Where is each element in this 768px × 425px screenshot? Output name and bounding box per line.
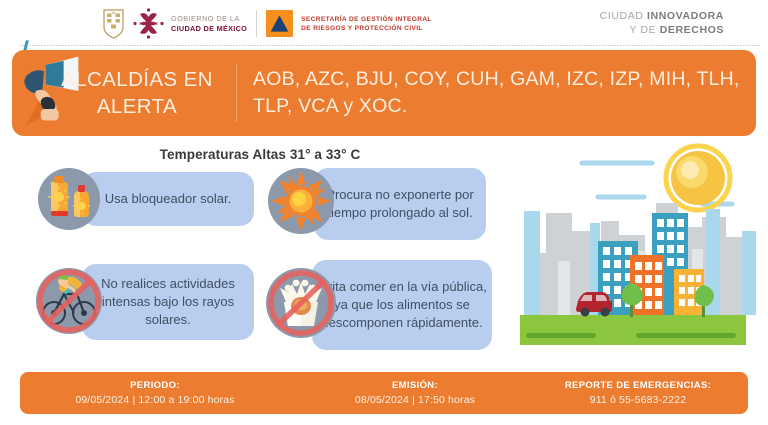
tip-text-sunscreen: Usa bloqueador solar. bbox=[82, 172, 254, 226]
tip-card-no-street-food: Evita comer en la vía pública, ya que lo… bbox=[266, 260, 492, 350]
tip-text-no-exercise: No realices actividades intensas bajo lo… bbox=[82, 264, 254, 340]
tip-card-sun-exposure: Procura no exponerte por tiempo prolonga… bbox=[266, 168, 486, 240]
tip-text-sun-exposure: Procura no exponerte por tiempo prolonga… bbox=[314, 168, 486, 240]
sun-icon bbox=[268, 168, 334, 234]
alcaldias-list-area: AOB, AZC, BJU, COY, CUH, GAM, IZC, IZP, … bbox=[237, 50, 756, 136]
secretaria-line-2: DE RIESGOS Y PROTECCIÓN CIVIL bbox=[301, 24, 432, 33]
temperature-heading: Temperaturas Altas 31° a 33° C bbox=[0, 147, 520, 162]
triangle-protection-icon bbox=[266, 10, 293, 37]
footer-periodo: PERIODO: 09/05/2024 | 12:00 a 19:00 hora… bbox=[20, 379, 290, 408]
no-cycling-icon bbox=[36, 268, 102, 334]
no-street-food-icon bbox=[266, 268, 336, 338]
alcaldias-list: AOB, AZC, BJU, COY, CUH, GAM, IZC, IZP, … bbox=[253, 66, 746, 120]
header-dotted-rule bbox=[20, 45, 760, 46]
page-header: GOBIERNO DE LA CIUDAD DE MÉXICO SECRETAR… bbox=[0, 0, 768, 46]
tip-text-no-street-food: Evita comer en la vía pública, ya que lo… bbox=[312, 260, 492, 350]
footer-emision: EMISIÓN: 08/05/2024 | 17:50 horas bbox=[290, 379, 540, 408]
alert-title-line-1: ALCALDÍAS EN bbox=[61, 68, 213, 91]
footer-emergencias-value: 911 ó 55-5683-2222 bbox=[540, 393, 736, 408]
gobierno-line-2: CIUDAD DE MÉXICO bbox=[171, 24, 247, 34]
sunscreen-bottles-icon bbox=[38, 168, 100, 230]
slogan-line-2: Y DE DERECHOS bbox=[600, 24, 724, 38]
city-skyline-with-sun-illustration bbox=[506, 143, 760, 355]
alert-banner-title-area: ALCALDÍAS EN ALERTA bbox=[12, 50, 236, 136]
slogan-line-1: CIUDAD INNOVADORA bbox=[600, 10, 724, 24]
gobierno-wordmark: GOBIERNO DE LA CIUDAD DE MÉXICO bbox=[171, 14, 247, 33]
footer-emergencias-label: REPORTE DE EMERGENCIAS: bbox=[540, 379, 736, 393]
slogan: CIUDAD INNOVADORA Y DE DERECHOS bbox=[600, 10, 724, 37]
cdmx-knot-icon bbox=[133, 8, 164, 39]
alert-title-line-2: ALERTA bbox=[61, 93, 213, 120]
alert-banner: ALCALDÍAS EN ALERTA AOB, AZC, BJU, COY, … bbox=[12, 50, 756, 136]
alert-poster: GOBIERNO DE LA CIUDAD DE MÉXICO SECRETAR… bbox=[0, 0, 768, 425]
footer-emision-label: EMISIÓN: bbox=[290, 379, 540, 393]
tip-card-no-exercise: No realices actividades intensas bajo lo… bbox=[34, 264, 254, 340]
header-divider bbox=[256, 10, 257, 37]
gobierno-line-1: GOBIERNO DE LA bbox=[171, 14, 247, 24]
footer-periodo-label: PERIODO: bbox=[20, 379, 290, 393]
cdmx-shield-icon bbox=[103, 9, 124, 39]
footer-bar: PERIODO: 09/05/2024 | 12:00 a 19:00 hora… bbox=[20, 372, 748, 414]
footer-periodo-value: 09/05/2024 | 12:00 a 19:00 horas bbox=[20, 393, 290, 408]
alert-banner-title: ALCALDÍAS EN ALERTA bbox=[35, 66, 213, 120]
footer-emision-value: 08/05/2024 | 17:50 horas bbox=[290, 393, 540, 408]
footer-emergencias: REPORTE DE EMERGENCIAS: 911 ó 55-5683-22… bbox=[540, 379, 748, 408]
tip-card-sunscreen: Usa bloqueador solar. bbox=[34, 172, 254, 226]
secretaria-wordmark: SECRETARÍA DE GESTIÓN INTEGRAL DE RIESGO… bbox=[301, 15, 432, 33]
header-logos: GOBIERNO DE LA CIUDAD DE MÉXICO SECRETAR… bbox=[103, 7, 432, 40]
secretaria-line-1: SECRETARÍA DE GESTIÓN INTEGRAL bbox=[301, 15, 432, 24]
